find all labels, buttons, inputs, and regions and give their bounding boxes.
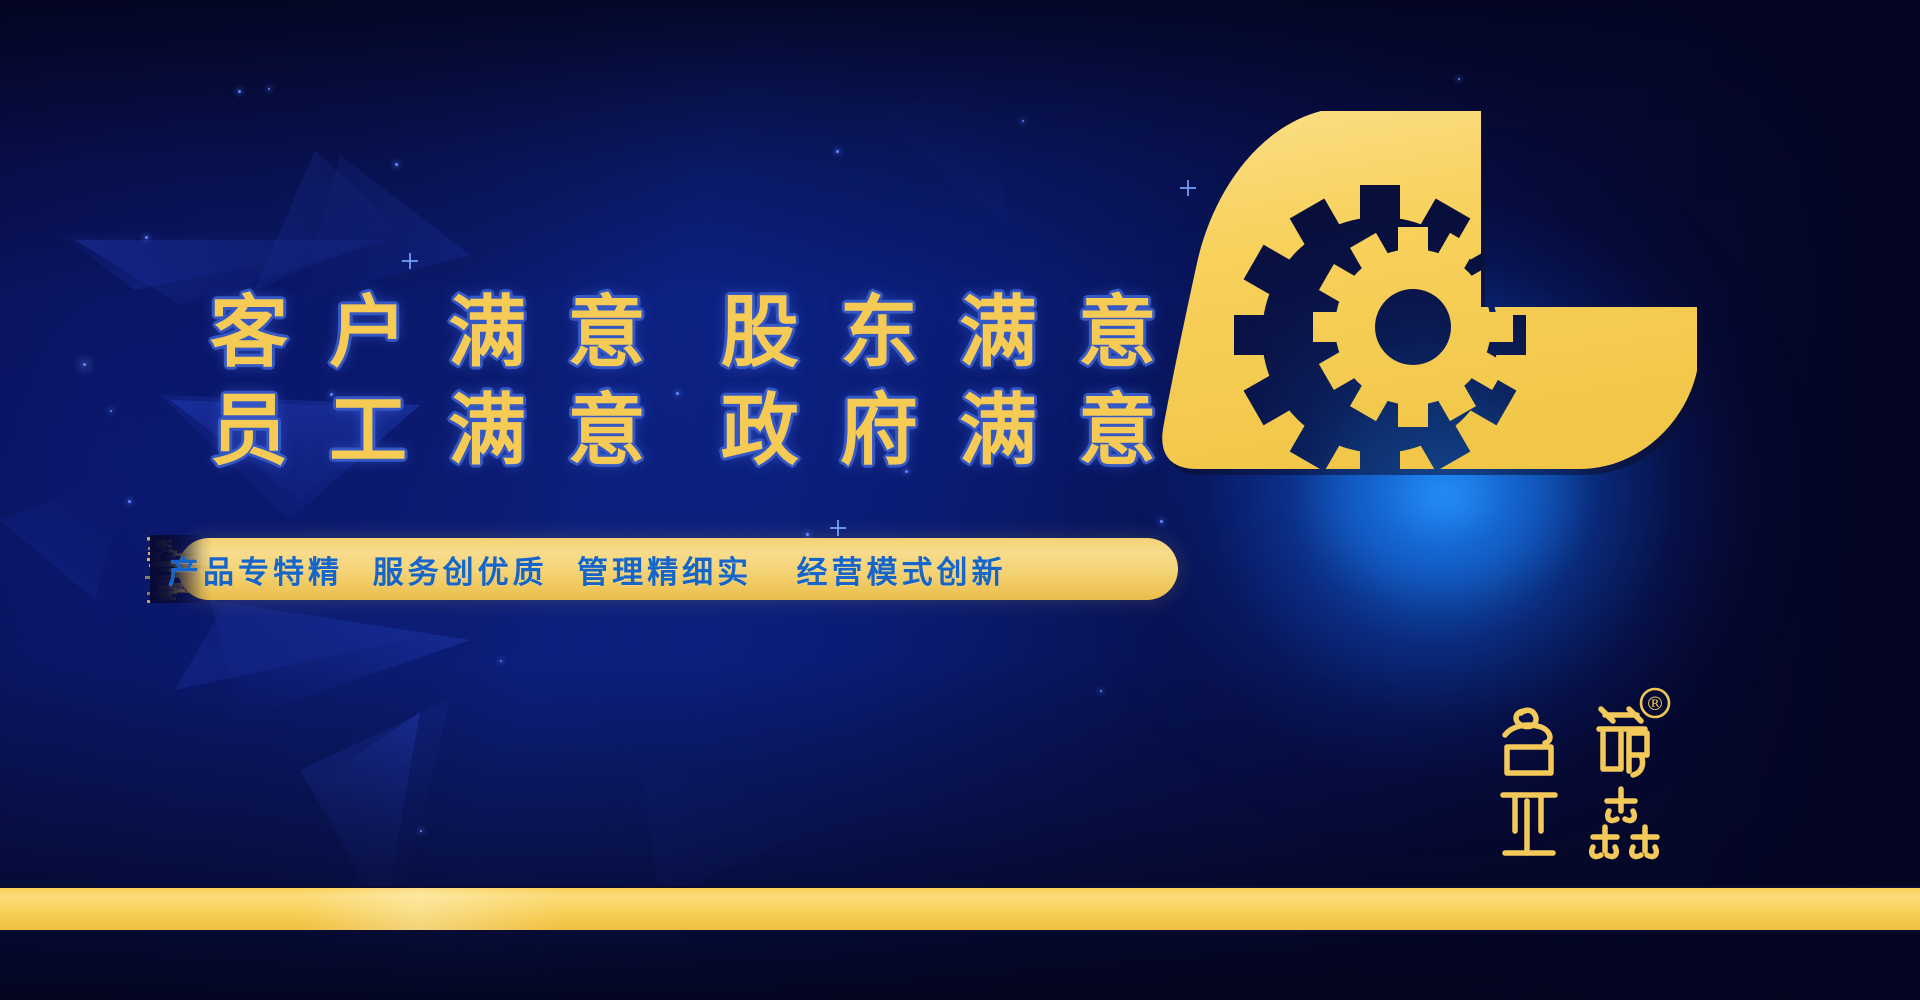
particle-dot — [395, 163, 398, 166]
brand-wordmark: ® — [1485, 685, 1695, 870]
particle-dot — [238, 90, 241, 93]
wordmark-char-zhu-left — [1603, 733, 1621, 769]
particle-dot — [1458, 78, 1460, 80]
wordmark-char-sen-left — [1592, 827, 1617, 857]
particle-dot — [110, 410, 112, 412]
headline-line-2: 员 工 满 意 政 府 满 意 — [210, 383, 1030, 479]
logo-body — [1162, 111, 1697, 469]
particle-dot — [500, 660, 502, 662]
particle-dot — [145, 236, 148, 239]
particle-dot — [128, 500, 131, 503]
headline-block: 客 户 满 意 股 东 满 意 员 工 满 意 政 府 满 意 — [210, 285, 1030, 479]
particle-dot — [420, 830, 422, 832]
particle-dot — [1100, 690, 1102, 692]
particle-sparkle — [402, 253, 418, 269]
footer-bar-sheen — [300, 888, 560, 930]
wordmark-char-zhu-hook — [1633, 755, 1643, 775]
particle-dot — [836, 150, 839, 153]
wordmark-char-tai-arc — [1505, 725, 1550, 743]
particle-dot — [1160, 520, 1163, 523]
wordmark-char-tai-box — [1507, 747, 1551, 773]
footer-gold-bar — [0, 886, 1920, 932]
banner-stage: 客 户 满 意 股 东 满 意 员 工 满 意 政 府 满 意 产品专特精 服务… — [0, 0, 1920, 1000]
registered-trademark-glyph: ® — [1646, 693, 1665, 715]
wordmark-char-sen-right — [1632, 827, 1657, 857]
company-logo — [1125, 95, 1705, 495]
headline-line-1: 客 户 满 意 股 东 满 意 — [210, 285, 1030, 381]
particle-dot — [268, 88, 270, 90]
registered-trademark-icon: ® — [1641, 689, 1669, 717]
seal-script-characters: ® — [1485, 685, 1695, 870]
particle-dot — [83, 363, 86, 366]
wordmark-char-sen-top — [1607, 789, 1635, 821]
subtitle-banner: 产品专特精 服务创优质 管理精细实 经营模式创新 — [150, 535, 1050, 603]
particle-sparkle — [830, 520, 846, 536]
wordmark-char-zhu-bamboo — [1601, 709, 1641, 721]
subtitle-text: 产品专特精 服务创优质 管理精细实 经营模式创新 — [168, 535, 1168, 603]
particle-dot — [1022, 120, 1024, 122]
gear-emblem-icon — [1125, 95, 1705, 495]
